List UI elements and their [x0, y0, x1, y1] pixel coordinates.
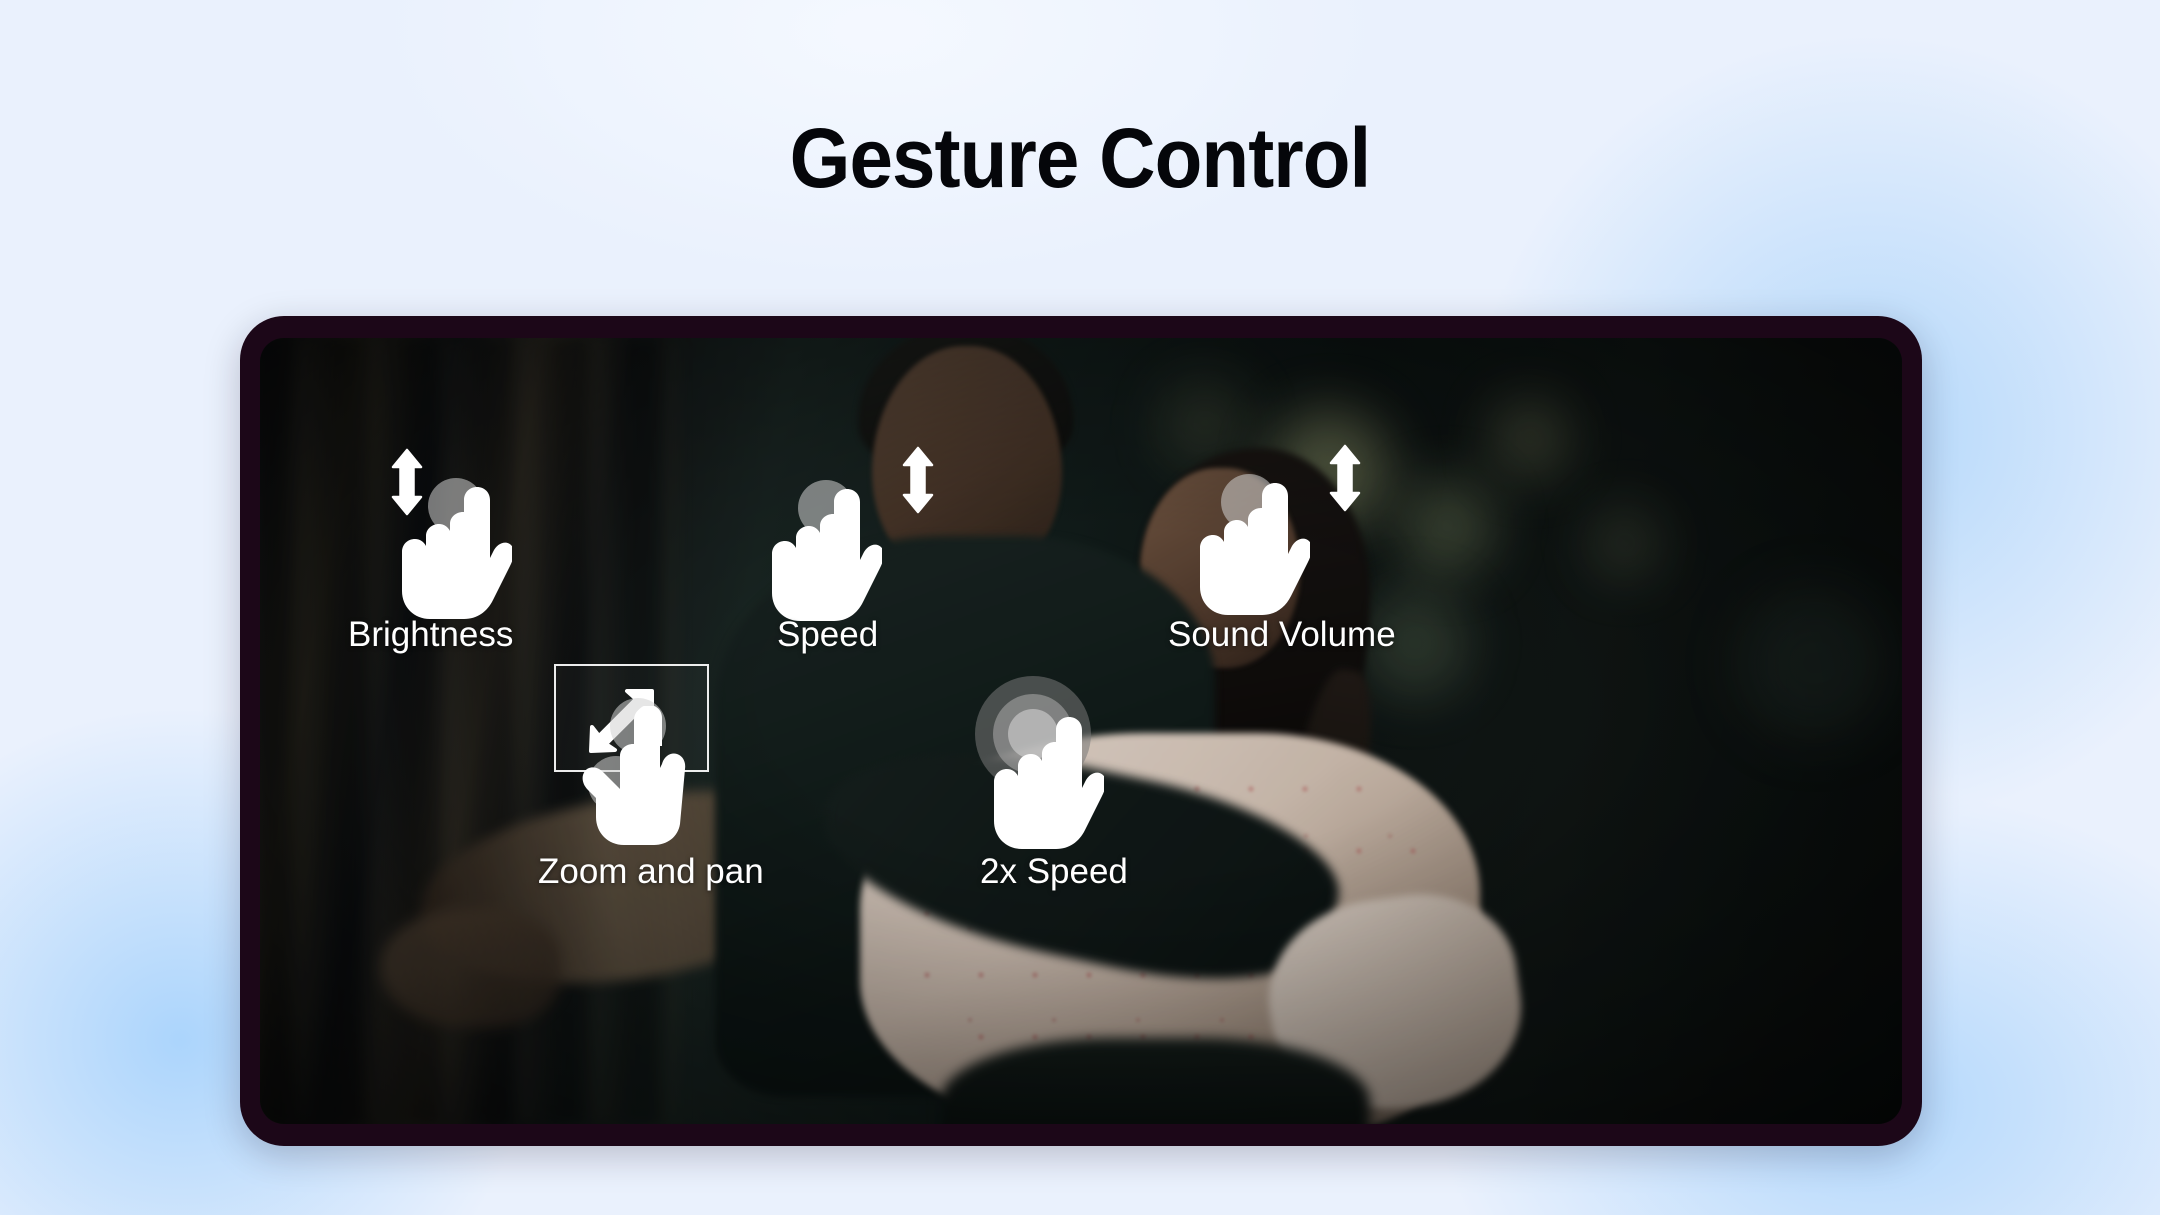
video-player-frame: Brightness Speed — [240, 316, 1922, 1146]
video-player-screen[interactable]: Brightness Speed — [260, 338, 1902, 1124]
one-finger-press-hand-icon — [982, 716, 1104, 852]
page-title: Gesture Control — [76, 110, 2085, 207]
gesture-2x-speed[interactable]: 2x Speed — [260, 338, 1902, 1124]
gesture-label-2x-speed: 2x Speed — [980, 852, 1128, 892]
gesture-overlay: Brightness Speed — [260, 338, 1902, 1124]
